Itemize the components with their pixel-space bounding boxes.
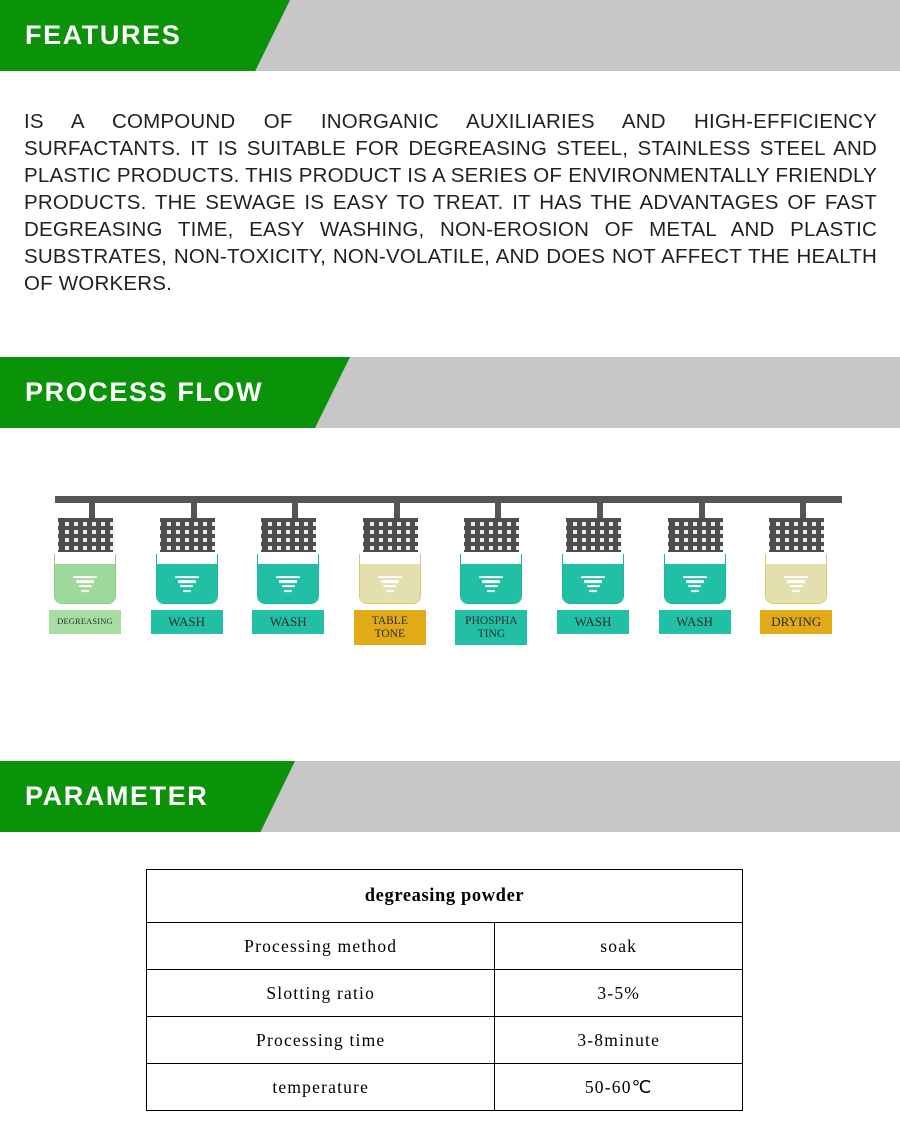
section-header-parameter: PARAMETER bbox=[0, 761, 900, 832]
section-title-features: FEATURES bbox=[25, 0, 181, 71]
liquid-wave-icon bbox=[378, 576, 402, 593]
tank-liquid bbox=[766, 564, 826, 603]
section-header-process-flow: PROCESS FLOW bbox=[0, 357, 900, 428]
station-label-line: WASH bbox=[660, 615, 730, 629]
process-tank bbox=[460, 554, 522, 604]
process-tank bbox=[156, 554, 218, 604]
table-row: Processing time3-8minute bbox=[147, 1017, 743, 1064]
table-row: temperature50-60℃ bbox=[147, 1064, 743, 1111]
process-tank bbox=[765, 554, 827, 604]
station-label-line: TABLE bbox=[355, 615, 425, 628]
station-label: PHOSPHATING bbox=[455, 610, 527, 645]
table-cell-value: soak bbox=[495, 923, 743, 970]
table-cell-value: 3-8minute bbox=[495, 1017, 743, 1064]
table-cell-value: 3-5% bbox=[495, 970, 743, 1017]
station-label-line: DEGREASING bbox=[50, 615, 120, 629]
process-tank bbox=[562, 554, 624, 604]
station-label-line: TONE bbox=[355, 628, 425, 641]
tank-liquid bbox=[563, 564, 623, 603]
workpiece-rack-icon bbox=[566, 518, 621, 552]
station-label-line: PHOSPHA bbox=[456, 615, 526, 628]
tank-liquid bbox=[258, 564, 318, 603]
section-title-process-flow: PROCESS FLOW bbox=[25, 357, 263, 428]
workpiece-rack-icon bbox=[160, 518, 215, 552]
station-label: DEGREASING bbox=[49, 610, 121, 634]
section-title-parameter: PARAMETER bbox=[25, 761, 208, 832]
table-row: Slotting ratio3-5% bbox=[147, 970, 743, 1017]
process-tank bbox=[359, 554, 421, 604]
parameter-table: degreasing powder Processing methodsoakS… bbox=[146, 869, 743, 1111]
workpiece-rack-icon bbox=[668, 518, 723, 552]
table-row: Processing methodsoak bbox=[147, 923, 743, 970]
process-tank bbox=[54, 554, 116, 604]
workpiece-rack-icon bbox=[261, 518, 316, 552]
workpiece-rack-icon bbox=[769, 518, 824, 552]
overhead-rail bbox=[55, 496, 842, 503]
station-label: WASH bbox=[252, 610, 324, 634]
liquid-wave-icon bbox=[276, 576, 300, 593]
station-label: DRYING bbox=[760, 610, 832, 634]
liquid-wave-icon bbox=[73, 576, 97, 593]
section-header-features: FEATURES bbox=[0, 0, 900, 71]
station-label: WASH bbox=[557, 610, 629, 634]
station-label-line: WASH bbox=[558, 615, 628, 629]
workpiece-rack-icon bbox=[464, 518, 519, 552]
tank-liquid bbox=[55, 564, 115, 603]
tank-liquid bbox=[157, 564, 217, 603]
product-detail-page: FEATURES IS A COMPOUND OF INORGANIC AUXI… bbox=[0, 0, 900, 1131]
workpiece-rack-icon bbox=[363, 518, 418, 552]
station-label-line: DRYING bbox=[761, 615, 831, 629]
workpiece-rack-icon bbox=[58, 518, 113, 552]
station-label: TABLETONE bbox=[354, 610, 426, 645]
process-tank bbox=[664, 554, 726, 604]
table-title-cell: degreasing powder bbox=[147, 870, 743, 923]
liquid-wave-icon bbox=[784, 576, 808, 593]
liquid-wave-icon bbox=[683, 576, 707, 593]
features-description: IS A COMPOUND OF INORGANIC AUXILIARIES A… bbox=[24, 108, 877, 297]
station-label: WASH bbox=[151, 610, 223, 634]
process-flow-diagram: DEGREASINGWASHWASHTABLETONEPHOSPHATINGWA… bbox=[0, 455, 900, 655]
tank-liquid bbox=[461, 564, 521, 603]
tank-liquid bbox=[665, 564, 725, 603]
liquid-wave-icon bbox=[175, 576, 199, 593]
table-cell-value: 50-60℃ bbox=[495, 1064, 743, 1111]
table-header-row: degreasing powder bbox=[147, 870, 743, 923]
table-cell-key: temperature bbox=[147, 1064, 495, 1111]
liquid-wave-icon bbox=[479, 576, 503, 593]
table-cell-key: Slotting ratio bbox=[147, 970, 495, 1017]
table-cell-key: Processing method bbox=[147, 923, 495, 970]
station-label: WASH bbox=[659, 610, 731, 634]
station-label-line: TING bbox=[456, 628, 526, 641]
table-cell-key: Processing time bbox=[147, 1017, 495, 1064]
tank-liquid bbox=[360, 564, 420, 603]
process-tank bbox=[257, 554, 319, 604]
station-label-line: WASH bbox=[152, 615, 222, 629]
station-label-line: WASH bbox=[253, 615, 323, 629]
liquid-wave-icon bbox=[581, 576, 605, 593]
